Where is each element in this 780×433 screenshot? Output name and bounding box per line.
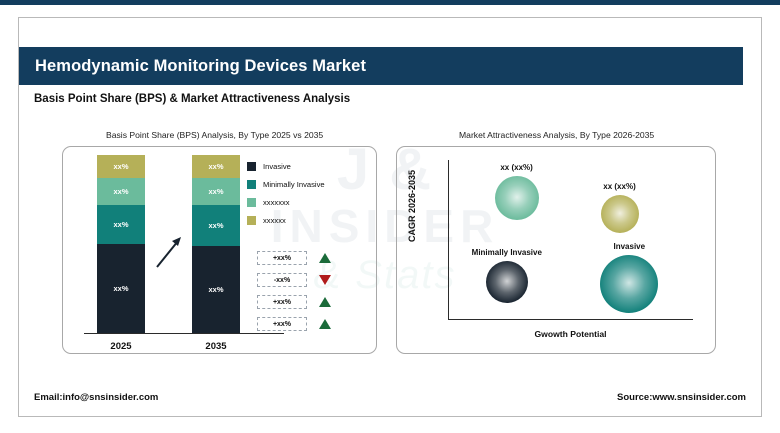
stacked-bar-2025[interactable]: xx%xx%xx%xx% xyxy=(97,155,145,333)
footer-email: Email:info@snsinsider.com xyxy=(34,392,158,403)
top-accent-strip xyxy=(0,0,780,5)
legend-item: xxxxxx xyxy=(247,216,325,225)
legend-item-label: Minimally Invasive xyxy=(263,180,325,189)
bubble-chart-y-label: CAGR 2026-2035 xyxy=(407,146,417,266)
delta-item: +xx% xyxy=(257,317,331,331)
bar-segment-label: xx% xyxy=(113,162,128,171)
page-title: Hemodynamic Monitoring Devices Market xyxy=(35,57,366,76)
bar-segment-label: xx% xyxy=(113,187,128,196)
triangle-up-icon xyxy=(319,297,331,307)
bubble-label: Minimally Invasive xyxy=(447,248,567,257)
delta-item: -xx% xyxy=(257,273,331,287)
delta-value-box: +xx% xyxy=(257,295,307,309)
bar-segment-label: xx% xyxy=(208,162,223,171)
bubble-marker[interactable] xyxy=(600,255,658,313)
bar-segment-label: xx% xyxy=(208,221,223,230)
bar-segment: xx% xyxy=(97,205,145,244)
triangle-up-icon xyxy=(319,253,331,263)
bar-segment: xx% xyxy=(192,178,240,205)
bar-segment-label: xx% xyxy=(208,285,223,294)
legend-item: Invasive xyxy=(247,162,325,171)
growth-arrow-icon xyxy=(155,235,183,269)
legend-item-label: Invasive xyxy=(263,162,291,171)
bar-segment: xx% xyxy=(192,246,240,333)
bps-delta-list: +xx%-xx%+xx%+xx% xyxy=(257,251,331,339)
legend-swatch-icon xyxy=(247,180,256,189)
legend-item-label: xxxxxx xyxy=(263,216,286,225)
right-chart-title: Market Attractiveness Analysis, By Type … xyxy=(459,130,654,140)
delta-value-box: +xx% xyxy=(257,317,307,331)
bps-legend: InvasiveMinimally Invasivexxxxxxxxxxxxx xyxy=(247,162,325,234)
legend-swatch-icon xyxy=(247,198,256,207)
infographic-page: Hemodynamic Monitoring Devices Market Ba… xyxy=(0,0,780,433)
bubble-label: xx (xx%) xyxy=(457,163,577,172)
bar-segment: xx% xyxy=(192,155,240,178)
page-subtitle: Basis Point Share (BPS) & Market Attract… xyxy=(34,93,350,105)
stacked-bar-2035[interactable]: xx%xx%xx%xx% xyxy=(192,155,240,333)
delta-value-box: +xx% xyxy=(257,251,307,265)
bar-segment-label: xx% xyxy=(113,284,128,293)
triangle-up-icon xyxy=(319,319,331,329)
delta-item: +xx% xyxy=(257,295,331,309)
delta-value-box: -xx% xyxy=(257,273,307,287)
bar-chart-axis xyxy=(84,333,284,334)
legend-swatch-icon xyxy=(247,216,256,225)
footer-source: Source:www.snsinsider.com xyxy=(617,392,746,403)
bar-segment: xx% xyxy=(97,155,145,178)
bubble-marker[interactable] xyxy=(486,261,528,303)
bubble-chart-x-label: Gwowth Potential xyxy=(448,329,693,339)
x-tick-2035: 2035 xyxy=(186,341,246,352)
title-bar: Hemodynamic Monitoring Devices Market xyxy=(19,47,743,85)
bubble-chart-x-axis xyxy=(448,319,693,320)
bubble-marker[interactable] xyxy=(495,176,539,220)
bubble-label: xx (xx%) xyxy=(560,182,680,191)
bar-segment: xx% xyxy=(192,205,240,246)
legend-item: xxxxxxx xyxy=(247,198,325,207)
attractiveness-bubble-chart: CAGR 2026-2035 Gwowth Potential xx (xx%)… xyxy=(396,146,716,354)
left-chart-title: Basis Point Share (BPS) Analysis, By Typ… xyxy=(106,130,323,140)
bubble-label: Invasive xyxy=(569,242,689,251)
legend-swatch-icon xyxy=(247,162,256,171)
bubble-marker[interactable] xyxy=(601,195,639,233)
delta-item: +xx% xyxy=(257,251,331,265)
bar-segment-label: xx% xyxy=(113,220,128,229)
legend-item-label: xxxxxxx xyxy=(263,198,290,207)
bubble-chart-y-axis xyxy=(448,160,449,320)
legend-item: Minimally Invasive xyxy=(247,180,325,189)
bar-segment: xx% xyxy=(97,244,145,333)
bar-segment: xx% xyxy=(97,178,145,205)
bps-bar-chart: xx%xx%xx%xx% xx%xx%xx%xx% 2025 2035 Inva… xyxy=(62,146,377,354)
triangle-down-icon xyxy=(319,275,331,285)
x-tick-2025: 2025 xyxy=(91,341,151,352)
bar-segment-label: xx% xyxy=(208,187,223,196)
